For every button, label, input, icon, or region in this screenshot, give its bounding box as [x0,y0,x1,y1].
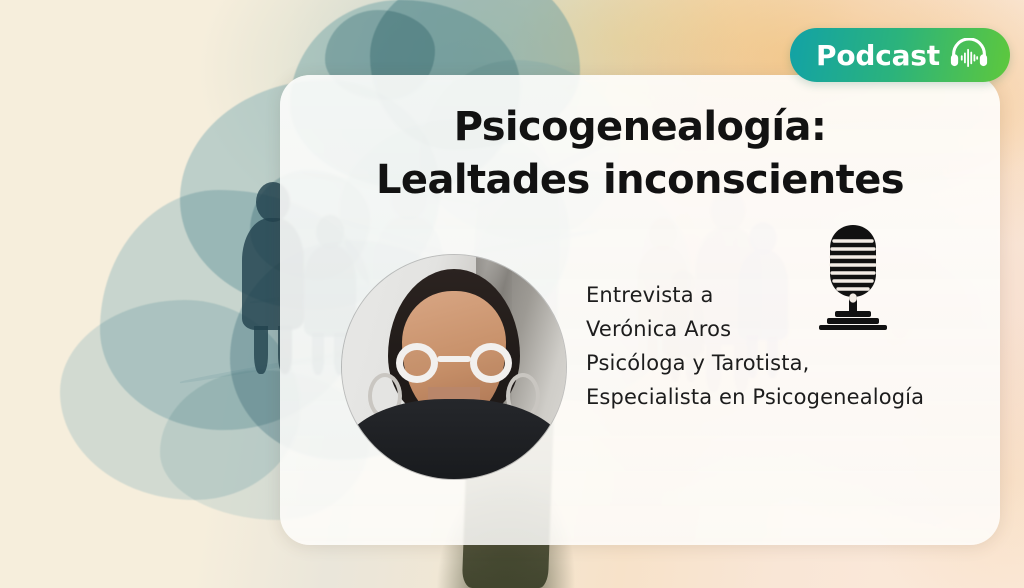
title-line-1: Psicogenealogía: [306,101,974,154]
portrait-glasses [396,343,512,383]
glasses-bridge [437,356,471,362]
glasses-lens-right [470,343,512,383]
guest-line-4: Especialista en Psicogenealogía [586,380,924,414]
glasses-lens-left [396,343,438,383]
page-title: Psicogenealogía: Lealtades inconscientes [280,101,1000,207]
podcast-badge[interactable]: Podcast [790,28,1010,82]
guest-line-1: Entrevista a [586,278,924,312]
podcast-badge-label: Podcast [816,39,940,72]
guest-line-2: Verónica Aros [586,312,924,346]
title-line-2: Lealtades inconscientes [306,154,974,207]
headphones-waveform-icon [950,38,988,72]
silhouette-leg [254,326,268,374]
guest-line-3: Psicóloga y Tarotista, [586,346,924,380]
guest-avatar [342,255,566,479]
guest-info: Entrevista a Verónica Aros Psicóloga y T… [586,278,924,414]
content-card: Psicogenealogía: Lealtades inconscientes [280,75,1000,545]
podcast-poster: Psicogenealogía: Lealtades inconscientes [0,0,1024,588]
